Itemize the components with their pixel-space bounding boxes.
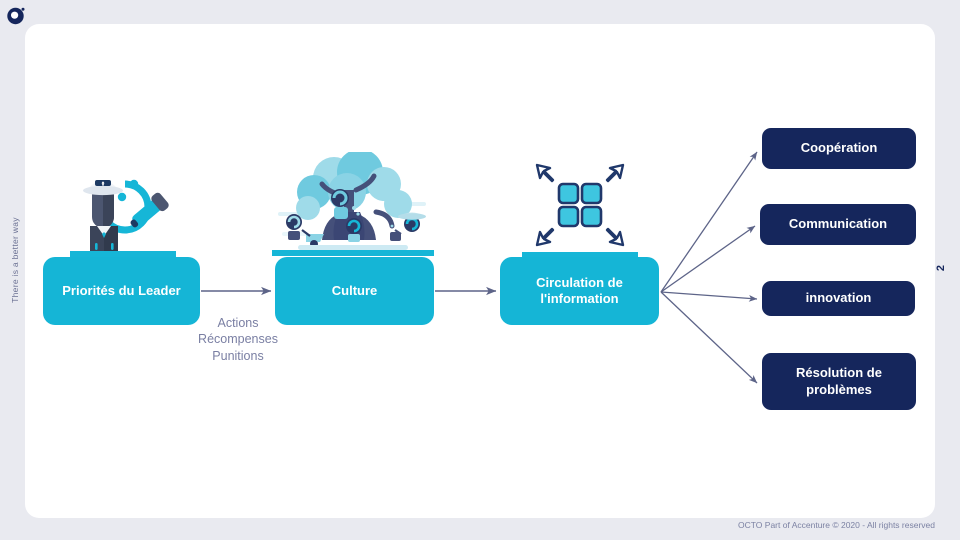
outcome-cooperation[interactable]: Coopération — [762, 128, 916, 169]
outcome-resolution-label: Résolution de problèmes — [770, 365, 908, 398]
process-step-culture-label: Culture — [332, 283, 378, 299]
midlabel-line-2: Récompenses — [176, 331, 300, 347]
outcome-communication-label: Communication — [789, 216, 887, 232]
tree-with-gardeners-illustration — [272, 152, 434, 261]
page-number: 2 — [935, 265, 947, 271]
outcome-communication[interactable]: Communication — [760, 204, 916, 245]
outcome-innovation[interactable]: innovation — [762, 281, 915, 316]
outcome-resolution[interactable]: Résolution de problèmes — [762, 353, 916, 410]
copyright-footer: OCTO Part of Accenture © 2020 - All righ… — [0, 520, 935, 530]
process-step-circulation-label: Circulation de l'information — [508, 275, 651, 308]
octo-logo-icon — [6, 6, 26, 26]
actions-rewards-punishments-label: Actions Récompenses Punitions — [176, 315, 300, 364]
midlabel-line-1: Actions — [176, 315, 300, 331]
captain-with-telescope-illustration — [70, 163, 176, 262]
midlabel-line-3: Punitions — [176, 348, 300, 364]
brand-tagline: There is a better way — [10, 200, 20, 320]
slide-canvas: There is a better way 2 — [0, 0, 960, 540]
process-step-leader-label: Priorités du Leader — [62, 283, 180, 299]
outcome-cooperation-label: Coopération — [801, 140, 878, 156]
expand-arrows-icon — [522, 158, 638, 263]
outcome-innovation-label: innovation — [806, 290, 872, 306]
process-step-circulation[interactable]: Circulation de l'information — [500, 257, 659, 325]
